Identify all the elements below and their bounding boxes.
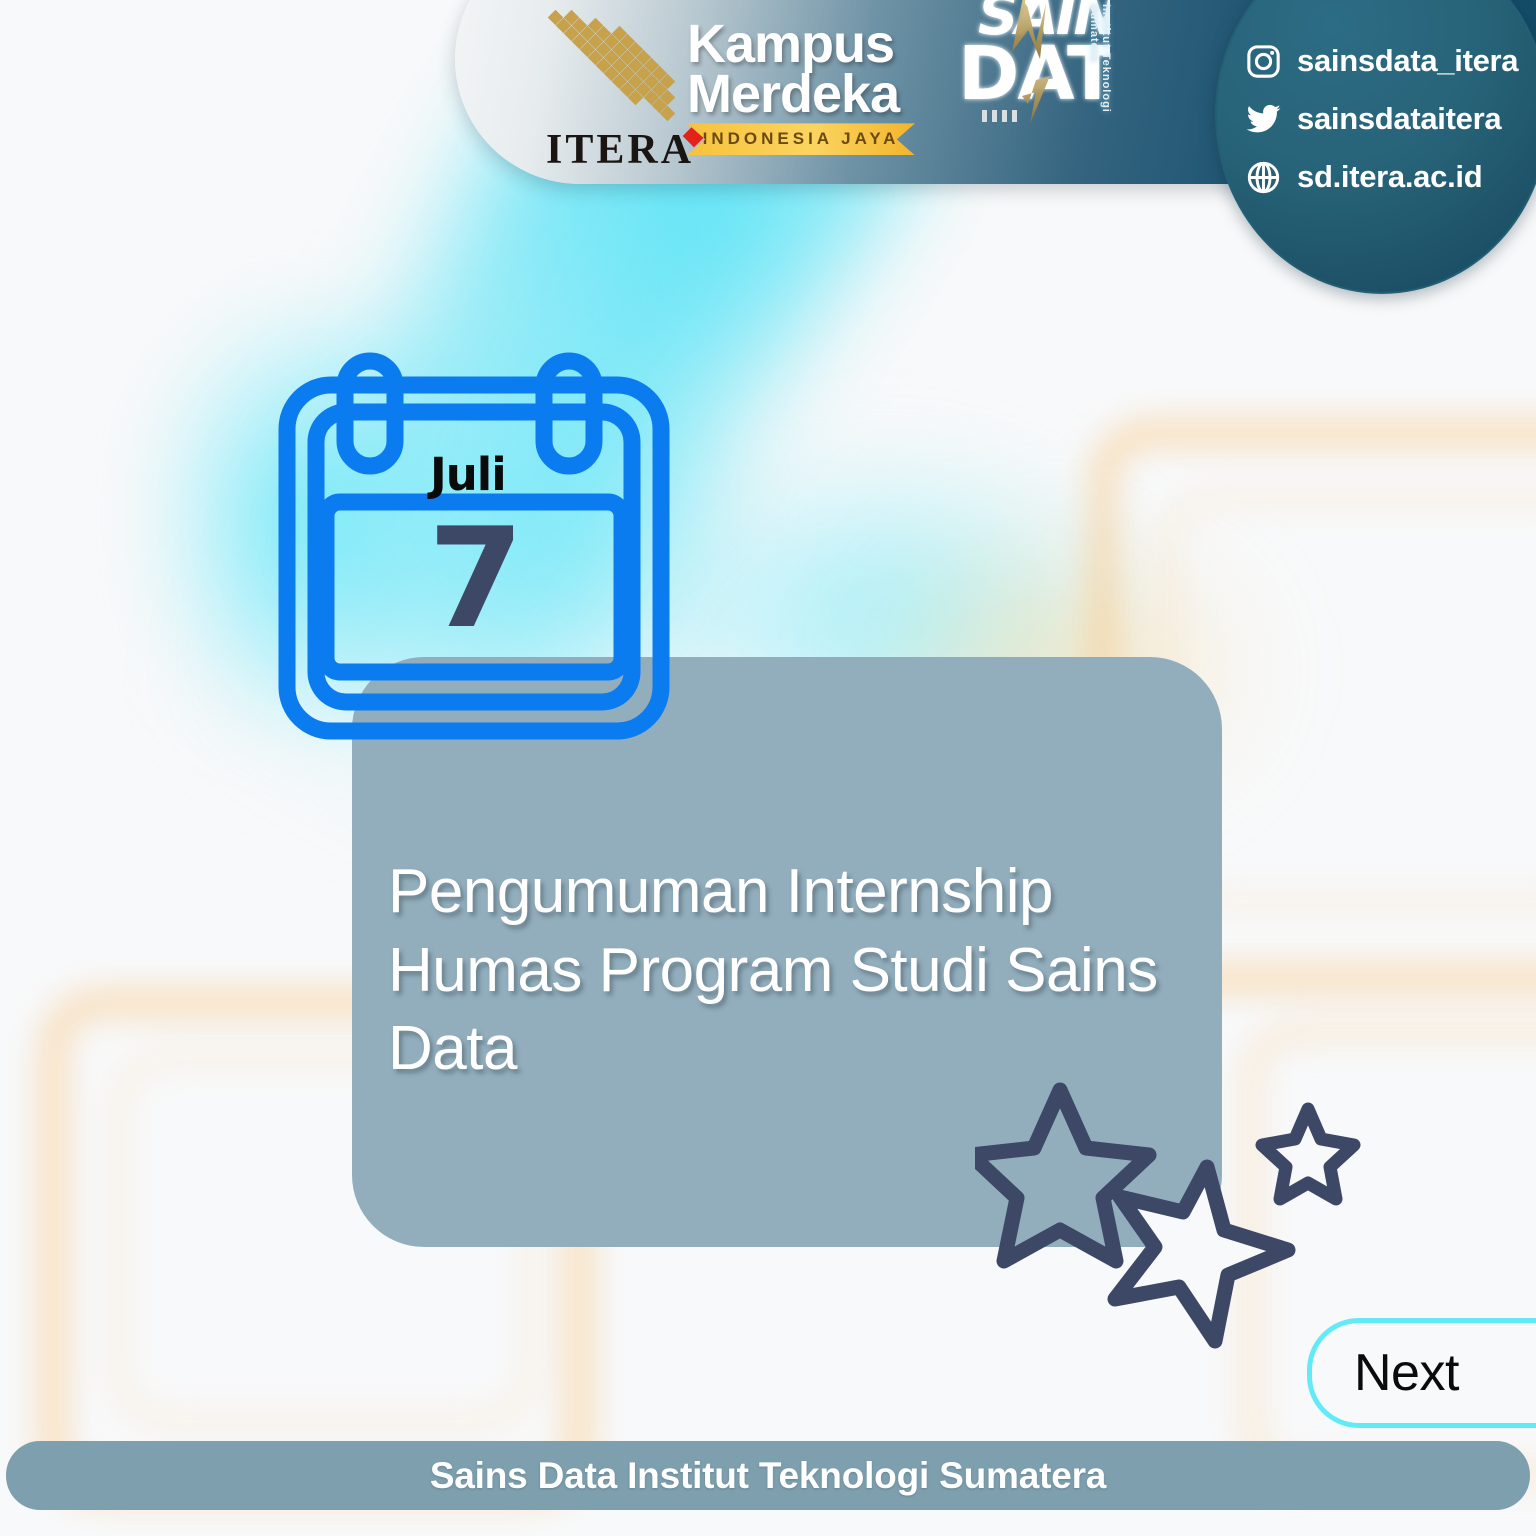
twitter-icon — [1245, 101, 1282, 138]
footer-bar: Sains Data Institut Teknologi Sumatera — [6, 1441, 1530, 1510]
kampus-merdeka-logo: Kampus Merdeka INDONESIA JAYA — [687, 20, 927, 160]
star-outline-icon — [1115, 1167, 1288, 1341]
sains-data-logo: SAINS DATA Institut Teknologi Sumatera — [950, 0, 1110, 139]
calendar-month-label: Juli — [430, 448, 506, 501]
social-row-twitter[interactable]: sainsdataitera — [1245, 90, 1518, 148]
kampus-merdeka-line1: Kampus — [687, 20, 927, 70]
instagram-icon — [1245, 43, 1282, 80]
footer-label: Sains Data Institut Teknologi Sumatera — [430, 1455, 1106, 1497]
social-row-website[interactable]: sd.itera.ac.id — [1245, 148, 1518, 206]
website-url: sd.itera.ac.id — [1297, 159, 1482, 195]
twitter-handle: sainsdataitera — [1297, 101, 1501, 137]
page-title: Pengumuman Internship Humas Program Stud… — [388, 853, 1208, 1089]
instagram-handle: sainsdata_itera — [1297, 43, 1518, 79]
indonesia-jaya-label: INDONESIA JAYA — [703, 129, 900, 149]
next-button[interactable]: Next — [1307, 1318, 1536, 1428]
next-button-label: Next — [1354, 1343, 1459, 1403]
itera-wordmark: ITERA — [546, 126, 694, 174]
star-decoration-group — [975, 1075, 1375, 1365]
globe-icon — [1245, 159, 1282, 196]
star-outline-icon — [975, 1090, 1149, 1261]
itera-logo: ITERA — [510, 10, 710, 175]
calendar-day-number: 7 — [406, 510, 546, 648]
sains-data-institution-label: Institut Teknologi Sumatera — [1088, 4, 1112, 139]
kampus-merdeka-line2: Merdeka — [687, 70, 927, 120]
sumatra-diamond-map-icon — [540, 10, 690, 140]
social-row-instagram[interactable]: sainsdata_itera — [1245, 32, 1518, 90]
calendar-icon: Juli 7 — [278, 352, 670, 740]
star-outline-icon — [1262, 1109, 1354, 1199]
indonesia-jaya-ribbon: INDONESIA JAYA — [687, 123, 915, 155]
sains-data-mark-icon: SAINS DATA — [950, 0, 1110, 139]
